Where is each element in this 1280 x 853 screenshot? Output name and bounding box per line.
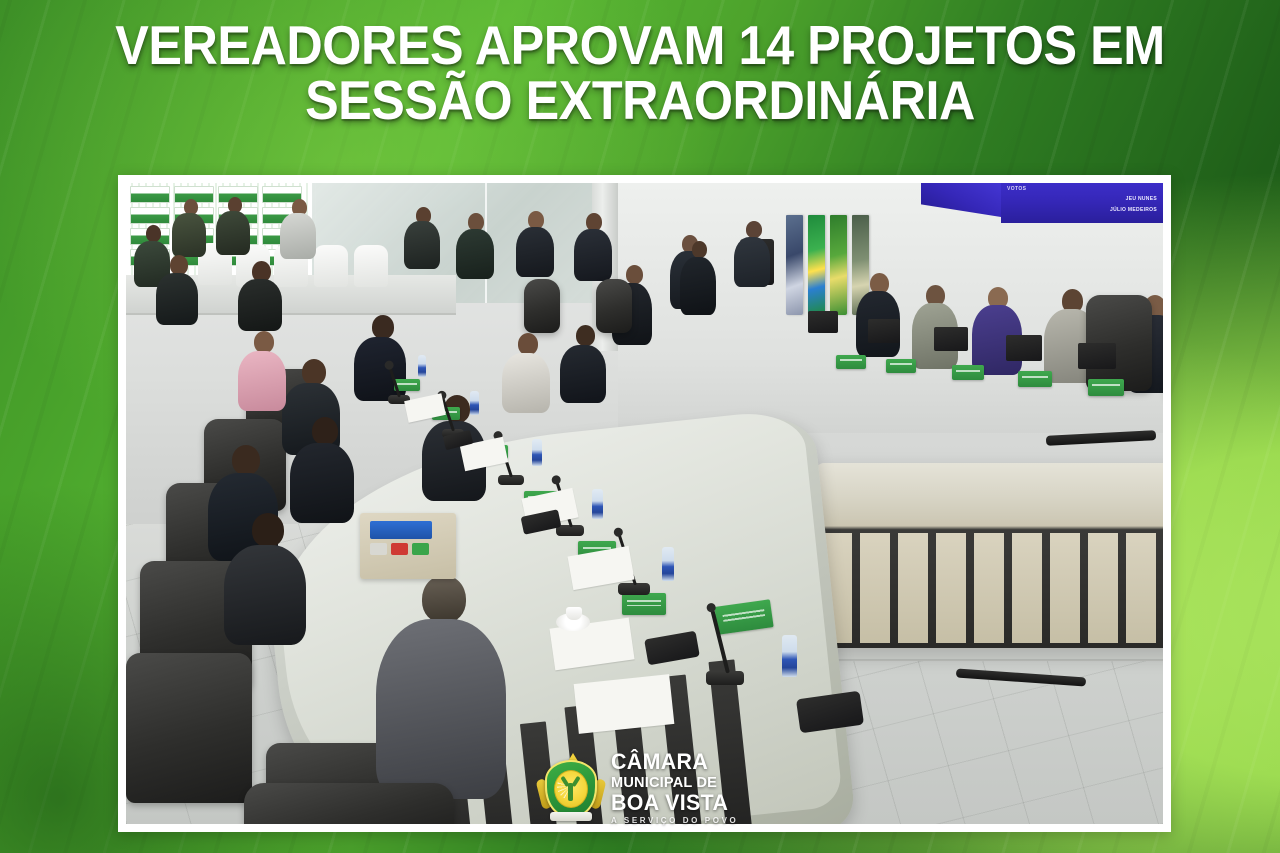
speaker-body xyxy=(734,237,770,287)
person-body xyxy=(516,227,554,277)
logo-text-block: CÂMARA MUNICIPAL DE BOA VISTA A SERVIÇO … xyxy=(611,751,738,825)
social-media-news-card: VEREADORES APROVAM 14 PROJETOS EM SESSÃO… xyxy=(0,0,1280,853)
person-body xyxy=(238,279,282,331)
headline: VEREADORES APROVAM 14 PROJETOS EM SESSÃO… xyxy=(0,20,1280,126)
nameplate xyxy=(622,593,666,615)
logo-line-municipal-de: MUNICIPAL DE xyxy=(611,775,735,790)
logo-line-camara: CÂMARA xyxy=(611,751,735,773)
nameplate xyxy=(886,359,916,373)
speaker-head xyxy=(746,221,762,238)
keypad-button-yes[interactable] xyxy=(412,543,429,555)
audience-chair xyxy=(314,245,348,287)
photo-frame: VOTOS JEU NUNES JÚLIO MEDEIROS xyxy=(118,175,1171,832)
water-bottle xyxy=(470,391,479,415)
keypad-button-no[interactable] xyxy=(391,543,408,555)
council-chair xyxy=(126,653,252,803)
chamber-chair xyxy=(596,279,632,333)
person-body xyxy=(502,353,550,413)
nameplate xyxy=(952,365,984,380)
person-body xyxy=(224,545,306,645)
person-body xyxy=(290,443,354,523)
document-papers xyxy=(574,674,675,734)
water-bottle xyxy=(662,547,674,581)
person-body xyxy=(156,273,198,325)
water-bottle xyxy=(592,489,603,519)
desk-monitor xyxy=(934,327,968,351)
flag-brazil xyxy=(808,215,825,315)
flag-roraima xyxy=(830,215,847,315)
nameplate xyxy=(836,355,866,369)
institution-logo: CÂMARA MUNICIPAL DE BOA VISTA A SERVIÇO … xyxy=(540,751,738,825)
person-head xyxy=(254,331,274,353)
person-head xyxy=(692,241,707,258)
audience-chair xyxy=(354,245,388,287)
crest-tree-glyph xyxy=(568,783,573,801)
person-head xyxy=(252,513,284,547)
headline-line-1: VEREADORES APROVAM 14 PROJETOS EM xyxy=(75,20,1206,71)
voting-board-row-1: JEU NUNES xyxy=(1126,196,1157,202)
person-body xyxy=(238,351,286,411)
voting-board-header: VOTOS xyxy=(1007,186,1026,192)
person-body xyxy=(574,229,612,281)
keypad-screen xyxy=(370,521,432,539)
person-head xyxy=(626,265,643,284)
voting-keypad-drawer[interactable] xyxy=(360,513,456,579)
person-head xyxy=(170,255,188,275)
person-head xyxy=(518,333,538,355)
person-body xyxy=(680,257,716,315)
flag-municipal xyxy=(786,215,803,315)
chamber-chair xyxy=(524,279,560,333)
nameplate xyxy=(1018,371,1052,387)
crest-ribbon xyxy=(550,812,592,821)
desk-monitor xyxy=(1078,343,1116,369)
voting-board: VOTOS JEU NUNES JÚLIO MEDEIROS xyxy=(1001,183,1163,223)
person-head xyxy=(232,445,260,475)
person-head xyxy=(312,417,338,445)
person-body xyxy=(404,221,440,269)
voting-board-row-2: JÚLIO MEDEIROS xyxy=(1110,207,1157,213)
logo-tagline: A SERVIÇO DO POVO xyxy=(611,817,738,825)
person-body xyxy=(456,229,494,279)
person-head xyxy=(146,225,161,242)
desk-monitor xyxy=(808,311,838,333)
coffee-cup xyxy=(566,607,582,620)
person-body xyxy=(172,213,206,257)
water-bottle xyxy=(782,635,797,677)
microphone-base xyxy=(706,671,744,685)
logo-line-boa-vista: BOA VISTA xyxy=(611,792,735,814)
person-body xyxy=(280,213,316,259)
person-head xyxy=(576,325,595,346)
person-body xyxy=(560,345,606,403)
headline-line-2: SESSÃO EXTRAORDINÁRIA xyxy=(75,75,1206,126)
person-head xyxy=(372,315,394,339)
foreground-chair xyxy=(244,783,454,824)
council-chamber-photo: VOTOS JEU NUNES JÚLIO MEDEIROS xyxy=(126,183,1163,824)
person-body xyxy=(216,211,250,255)
desk-monitor xyxy=(868,319,900,343)
person-head xyxy=(302,359,326,385)
person-head xyxy=(422,575,466,623)
water-bottle xyxy=(418,355,426,377)
water-bottle xyxy=(532,439,542,466)
desk-monitor xyxy=(1006,335,1042,361)
person-body xyxy=(376,619,506,799)
presidium-panel-row xyxy=(822,533,1163,643)
keypad-button[interactable] xyxy=(370,543,387,555)
nameplate xyxy=(1088,379,1124,396)
coat-of-arms-icon xyxy=(540,753,602,823)
